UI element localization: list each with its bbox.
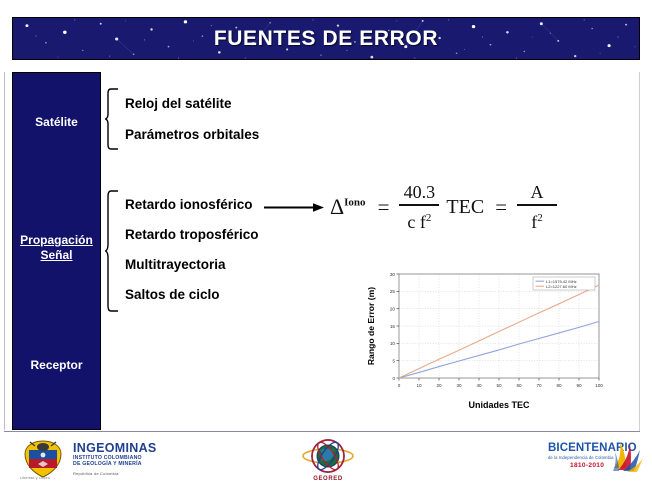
formula-numerator-1: 40.3 <box>400 182 440 202</box>
error-range-chart: 0102030405060708090100051015202530Unidad… <box>363 262 609 414</box>
colombia-coat-of-arms-icon <box>20 440 66 480</box>
sidebar-item-receptor-label: Receptor <box>30 358 82 372</box>
ingeominas-motto: Libertad y Orden <box>20 476 50 480</box>
svg-text:Unidades TEC: Unidades TEC <box>468 400 530 410</box>
svg-text:15: 15 <box>390 324 396 329</box>
arrow-right-icon <box>264 203 324 212</box>
formula-numerator-2: A <box>527 182 548 202</box>
ingeominas-line2: DE GEOLOGÍA Y MINERÍA <box>73 461 157 467</box>
ingeominas-name: INGEOMINAS <box>73 442 157 455</box>
sidebar-item-senal-label: Señal <box>40 248 72 262</box>
bicentenario-subtitle: de la Independencia de Colombia <box>548 455 614 460</box>
formula-lhs: ΔIono <box>330 194 366 220</box>
chart-svg: 0102030405060708090100051015202530Unidad… <box>363 262 609 414</box>
sidebar-item-propagacion-senal[interactable]: Propagación Señal <box>13 233 100 263</box>
geored-logo: GEORED <box>300 438 356 488</box>
svg-text:Rango de Error (m): Rango de Error (m) <box>366 287 376 365</box>
list-item: Multitrayectoria <box>125 250 259 280</box>
svg-text:70: 70 <box>536 383 542 388</box>
ingeominas-wordmark: INGEOMINAS INSTITUTO COLOMBIANO DE GEOLO… <box>73 442 157 477</box>
satelite-error-list: Reloj del satélite Parámetros orbitales <box>125 88 259 150</box>
satelite-error-group: Reloj del satélite Parámetros orbitales <box>105 88 315 150</box>
svg-text:90: 90 <box>576 383 582 388</box>
ingeominas-logo: INGEOMINAS INSTITUTO COLOMBIANO DE GEOLO… <box>18 440 248 484</box>
slide-footer: INGEOMINAS INSTITUTO COLOMBIANO DE GEOLO… <box>0 436 652 489</box>
svg-text:5: 5 <box>392 358 395 363</box>
list-item: Reloj del satélite <box>125 88 259 119</box>
sidebar-item-satelite[interactable]: Satélite <box>13 115 100 130</box>
page-title: FUENTES DE ERROR <box>13 18 639 59</box>
list-item: Parámetros orbitales <box>125 119 259 150</box>
formula-denominator-2: f2 <box>527 208 547 232</box>
ingeominas-line3: República de Colombia <box>73 470 157 477</box>
slide-title-bar: FUENTES DE ERROR <box>12 17 640 60</box>
curly-brace-icon <box>105 88 119 150</box>
svg-text:0: 0 <box>392 376 395 381</box>
svg-text:30: 30 <box>456 383 462 388</box>
sidebar-item-satelite-label: Satélite <box>35 115 78 129</box>
bicentenario-logo: BICENTENARIO de la Independencia de Colo… <box>548 442 644 482</box>
content-left-rule <box>4 72 5 430</box>
formula-fraction-2: A f2 <box>517 182 557 232</box>
error-category-sidebar: Satélite Propagación Señal Receptor <box>12 72 101 430</box>
svg-text:L2=1227.60 MHz: L2=1227.60 MHz <box>546 284 577 289</box>
propagacion-error-list: Retardo ionosférico Retardo troposférico… <box>125 190 259 310</box>
svg-text:10: 10 <box>390 341 396 346</box>
svg-text:0: 0 <box>398 383 401 388</box>
formula-denominator-1: c f2 <box>403 208 435 232</box>
formula-equals-2: = <box>495 195 507 220</box>
fraction-bar <box>399 204 439 206</box>
svg-text:80: 80 <box>556 383 562 388</box>
slide-canvas: FUENTES DE ERROR Satélite Propagación Se… <box>0 0 652 489</box>
list-item: Retardo ionosférico <box>125 190 259 220</box>
svg-text:20: 20 <box>436 383 442 388</box>
svg-text:50: 50 <box>496 383 502 388</box>
list-item: Retardo troposférico <box>125 220 259 250</box>
content-right-rule <box>639 72 640 431</box>
geored-globe-icon <box>300 438 356 478</box>
sidebar-item-propagacion-label: Propagación <box>20 233 93 247</box>
formula-tec: TEC <box>446 196 484 219</box>
bicentenario-flourish-icon <box>610 438 644 474</box>
content-bottom-rule <box>4 431 640 432</box>
svg-text:40: 40 <box>476 383 482 388</box>
formula-equals-1: = <box>378 195 390 220</box>
geored-wordmark: GEORED <box>300 476 356 482</box>
svg-text:10: 10 <box>416 383 422 388</box>
formula-fraction-1: 40.3 c f2 <box>399 182 439 232</box>
svg-text:100: 100 <box>595 383 603 388</box>
svg-text:20: 20 <box>390 306 396 311</box>
ionospheric-delay-formula: ΔIono = 40.3 c f2 TEC = A f2 <box>330 170 630 244</box>
curly-brace-icon <box>105 190 119 312</box>
bicentenario-years: 1810-2010 <box>570 462 604 469</box>
svg-text:25: 25 <box>390 289 396 294</box>
svg-text:30: 30 <box>390 272 396 277</box>
sidebar-item-receptor[interactable]: Receptor <box>13 358 100 373</box>
fraction-bar <box>517 204 557 206</box>
list-item: Saltos de ciclo <box>125 280 259 310</box>
svg-text:60: 60 <box>516 383 522 388</box>
